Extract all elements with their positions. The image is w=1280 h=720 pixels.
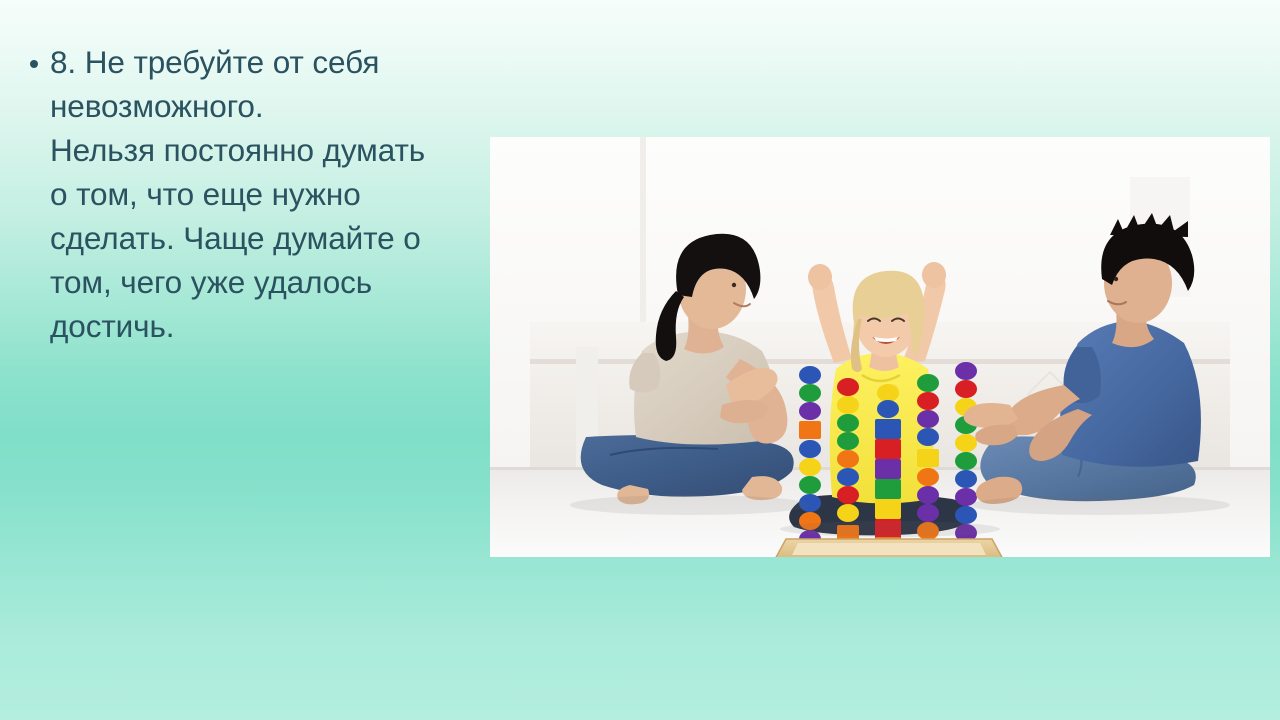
girl-fist-left xyxy=(808,264,832,290)
father-eye xyxy=(1114,277,1118,281)
family-photo xyxy=(490,137,1270,557)
girl-fist-right xyxy=(922,262,946,288)
toy-tower-2 xyxy=(837,378,859,543)
toy-tray xyxy=(774,539,1004,557)
bullet-list-item: 8. Не требуйте от себя невозможного. Нел… xyxy=(30,40,450,348)
slide-text-block: 8. Не требуйте от себя невозможного. Нел… xyxy=(30,40,450,348)
bullet-dot-icon xyxy=(30,60,38,68)
body-paragraph: 8. Не требуйте от себя невозможного. Нел… xyxy=(50,40,450,348)
photo-illustration xyxy=(490,137,1270,557)
toy-tower-4 xyxy=(917,374,939,540)
mother-eye xyxy=(732,283,736,287)
